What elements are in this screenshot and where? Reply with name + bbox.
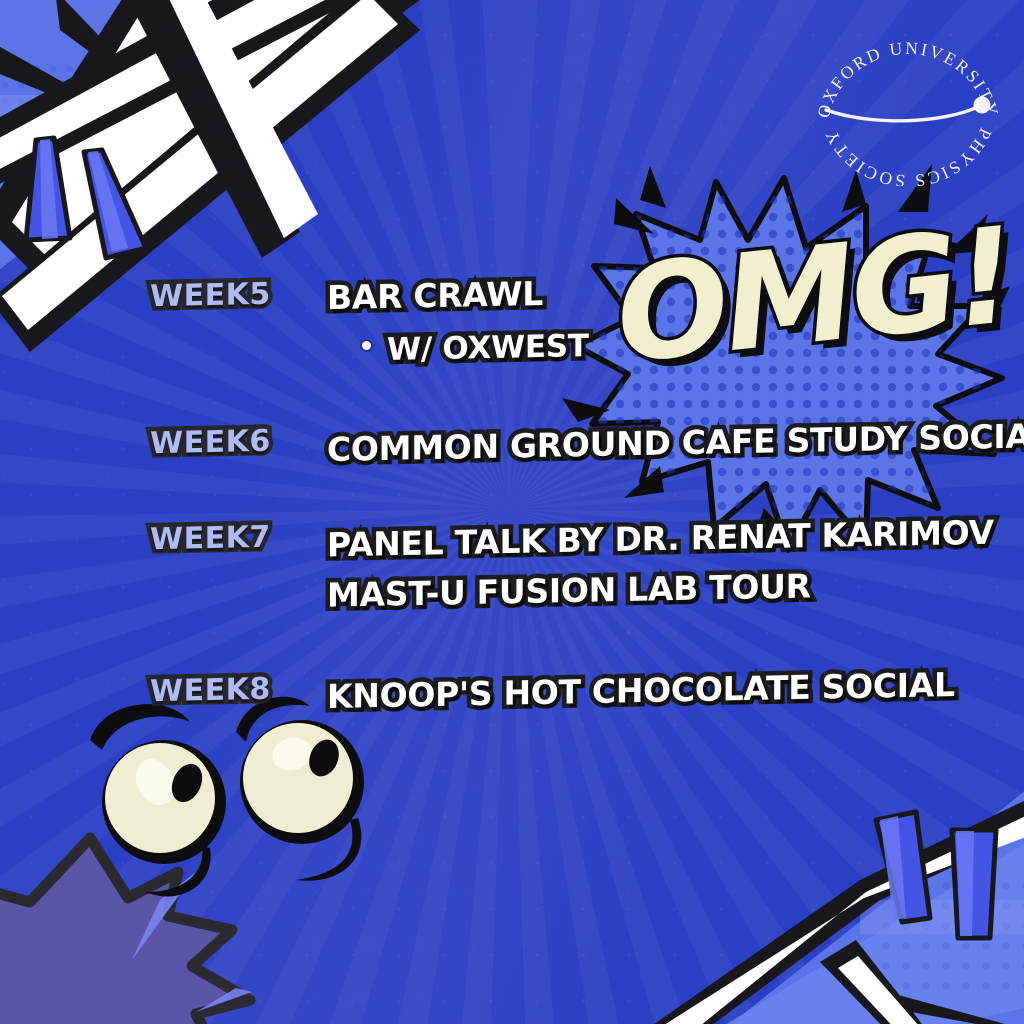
week-label-week5: WEEK5	[150, 277, 271, 315]
event-title-knoops-hot-chocolate: KNOOP'S HOT CHOCOLATE SOCIAL	[327, 665, 955, 716]
schedule-row-week6: WEEK6	[150, 425, 271, 460]
event-title-panel-talk: PANEL TALK BY DR. RENAT KARIMOV	[327, 513, 994, 565]
event-line-week7-2: MAST-U FUSION LAB TOUR	[327, 571, 811, 610]
event-title-oxwest: W/ OXWEST	[387, 328, 589, 368]
schedule-row-week8: WEEK8	[150, 673, 271, 708]
week-label-week6: WEEK6	[150, 424, 271, 462]
comic-event-poster: OMG! OXFORD UNIVERSITY PHYSICS SOCIETY O…	[0, 0, 1024, 1024]
week-label-week7: WEEK7	[150, 520, 271, 558]
schedule-row-week7: WEEK7	[150, 521, 271, 556]
event-title-common-ground-cafe: COMMON GROUND CAFE STUDY SOCIAL	[327, 416, 1024, 469]
schedule-row-week5: WEEK5	[150, 278, 271, 313]
event-line-week8-1: KNOOP'S HOT CHOCOLATE SOCIAL	[327, 671, 955, 710]
event-line-week5-2: W/ OXWEST	[362, 330, 589, 366]
event-title-mastu-lab-tour: MAST-U FUSION LAB TOUR	[327, 566, 811, 614]
event-line-week7-1: PANEL TALK BY DR. RENAT KARIMOV	[327, 519, 994, 558]
event-line-week5-1: BAR CRAWL	[327, 276, 543, 315]
event-title-bar-crawl: BAR CRAWL	[327, 274, 543, 317]
event-line-week6-1: COMMON GROUND CAFE STUDY SOCIAL	[327, 423, 1024, 462]
bullet-dot	[362, 341, 371, 350]
week-label-week8: WEEK8	[150, 672, 271, 710]
schedule-list: WEEK5 BAR CRAWL W/ OXWEST WEEK6 COMMON G…	[0, 0, 1024, 1024]
